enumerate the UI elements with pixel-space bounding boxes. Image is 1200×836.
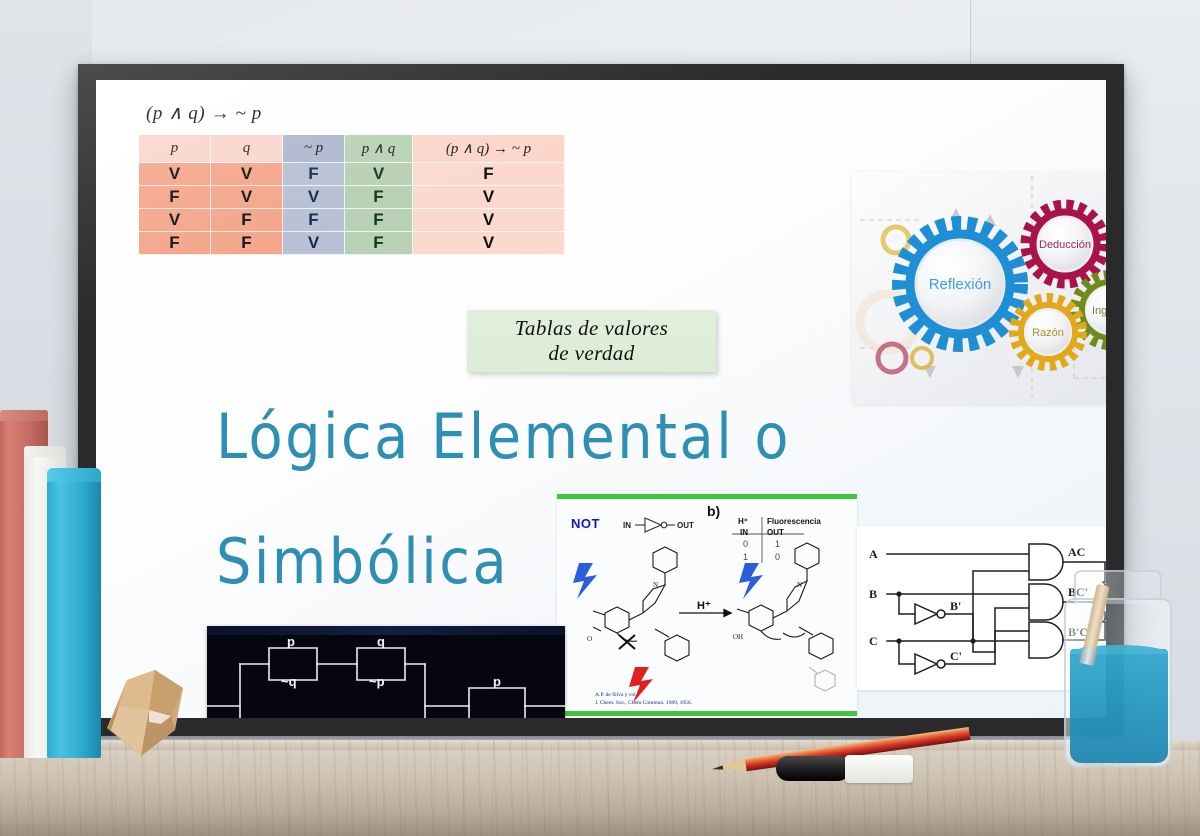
whiteboard-frame: (p ∧ q) → ~ p p q ~ p p ∧ q (p ∧ q) → ~ … (78, 64, 1124, 736)
gear-label-reflexion: Reflexión (929, 276, 992, 293)
gear-label-ingenio: Ingenio (1092, 305, 1106, 317)
cell-pq-1: V (345, 163, 413, 186)
chem-cell-out-1: 0 (775, 552, 780, 562)
book-cyan (47, 468, 101, 758)
gate-input-a: A (869, 547, 878, 561)
bolt-blue-left (573, 563, 597, 599)
chem-subhead-in: IN (740, 528, 748, 537)
switching-circuit-figure: p ~q q ~p p ~q q ^p p ~q (207, 626, 565, 718)
molecule-left-o: O (587, 635, 592, 643)
table-row: F V V F V (139, 186, 565, 209)
chem-head-h-plus: H⁺ (738, 517, 748, 526)
molecule-right-n: N (797, 581, 802, 589)
cell-np-2: V (283, 186, 345, 209)
whiteboard-surface: (p ∧ q) → ~ p p q ~ p p ∧ q (p ∧ q) → ~ … (96, 80, 1106, 718)
switch-label-p-right: p (493, 674, 501, 689)
switch-label-p-top: p (287, 634, 295, 649)
cell-q-4: F (211, 232, 283, 255)
switch-label-nq-top: ~q (281, 674, 297, 689)
truth-table-header-row: p q ~ p p ∧ q (p ∧ q) → ~ p (139, 135, 565, 163)
wire-bp-down (973, 614, 995, 652)
truth-table-body: V V F V F F V V F V V F (139, 163, 565, 255)
note-line-2: de verdad (548, 341, 634, 366)
gate-label-b-not: B' (950, 599, 961, 613)
cell-np-3: F (283, 209, 345, 232)
cell-q-2: V (211, 186, 283, 209)
cell-pq-4: F (345, 232, 413, 255)
cell-p-1: V (139, 163, 211, 186)
cell-pq-2: F (345, 186, 413, 209)
not-gate-symbol (635, 518, 675, 532)
book-red-top (0, 410, 48, 421)
cell-res-4: V (413, 232, 565, 255)
eraser (845, 755, 913, 783)
cell-pq-3: F (345, 209, 413, 232)
cell-np-4: V (283, 232, 345, 255)
reaction-h-plus-label: H⁺ (697, 599, 711, 612)
cell-res-1: F (413, 163, 565, 186)
switch-label-nq-right: ~q (487, 717, 503, 718)
truth-table-note: Tablas de valores de verdad (467, 310, 716, 372)
truth-table-formula: (p ∧ q) → ~ p (146, 102, 565, 125)
cell-p-2: F (139, 186, 211, 209)
molecule-left-n: N (653, 581, 658, 589)
cell-res-3: V (413, 209, 565, 232)
table-row: V V F V F (139, 163, 565, 186)
wire-c-to-inv (899, 641, 915, 664)
molecule-right (737, 543, 833, 659)
table-row: V F F F V (139, 209, 565, 232)
gear-deduccion: Deducción (1027, 206, 1103, 282)
wire-b-to-inv (899, 594, 915, 614)
switching-circuit-svg: p ~q q ~p p ~q q ^p p ~q (207, 626, 565, 718)
polyhedron-svg (97, 670, 209, 762)
gears-diagram: Reflexión Deducción Ingenio (852, 172, 1106, 404)
gear-label-deduccion: Deducción (1039, 239, 1091, 251)
th-implication: (p ∧ q) → ~ p (413, 135, 565, 163)
chem-cell-in-1: 1 (743, 552, 748, 562)
cell-q-3: F (211, 209, 283, 232)
chem-head-fluorescencia: Fluorescencia (767, 517, 821, 526)
chemistry-logic-figure: NOT IN OUT b) (557, 491, 857, 718)
molecule-ghost (809, 667, 835, 691)
book-white-top (24, 446, 66, 457)
wooden-polyhedron-ornament (97, 670, 209, 762)
marker (776, 756, 850, 781)
table-row: F F V F V (139, 232, 565, 255)
gate-output-ac: AC (1068, 545, 1085, 559)
truth-table-block: (p ∧ q) → ~ p p q ~ p p ∧ q (p ∧ q) → ~ … (138, 102, 565, 255)
th-p: p (139, 135, 211, 163)
gate-label-c-not: C' (950, 649, 962, 663)
cell-q-1: V (211, 163, 283, 186)
cell-p-3: V (139, 209, 211, 232)
chem-citation: A.P. de Silva y col. J. Chem. Soc., Chem… (595, 692, 692, 708)
chem-cell-in-0: 0 (743, 539, 748, 549)
not-gate-b (915, 604, 973, 624)
th-not-p: ~ p (283, 135, 345, 163)
gate-input-c: C (869, 634, 878, 648)
gate-input-b: B (869, 587, 877, 601)
molecule-cross-out (619, 635, 635, 649)
th-p-and-q: p ∧ q (345, 135, 413, 163)
molecule-left (593, 547, 689, 661)
title-line-1: Lógica Elemental o (216, 402, 916, 471)
switch-label-q-top: q (377, 634, 385, 649)
truth-table: p q ~ p p ∧ q (p ∧ q) → ~ p V V F V F (138, 134, 565, 255)
book-cyan-top (47, 468, 101, 482)
cell-res-2: V (413, 186, 565, 209)
gear-label-razon: Razón (1032, 327, 1064, 339)
wire-cp-to-and2 (995, 608, 1029, 664)
cell-p-4: F (139, 232, 211, 255)
molecule-right-oh: OH (733, 633, 743, 641)
gear-reflexion: Reflexión (901, 225, 1019, 343)
chem-cell-out-0: 1 (775, 539, 780, 549)
bolt-blue-right (739, 563, 763, 599)
citation-line-1: A.P. de Silva y col. (595, 692, 692, 700)
gears-svg: Reflexión Deducción Ingenio (852, 172, 1106, 404)
switch-label-np-top: ~p (369, 674, 385, 689)
chem-subhead-out: OUT (767, 528, 784, 537)
citation-line-2: J. Chem. Soc., Chem Commun. 1989, 1056. (595, 700, 692, 708)
note-line-1: Tablas de valores (515, 316, 668, 341)
cell-np-1: F (283, 163, 345, 186)
th-q: q (211, 135, 283, 163)
glass-jar (1064, 570, 1172, 768)
